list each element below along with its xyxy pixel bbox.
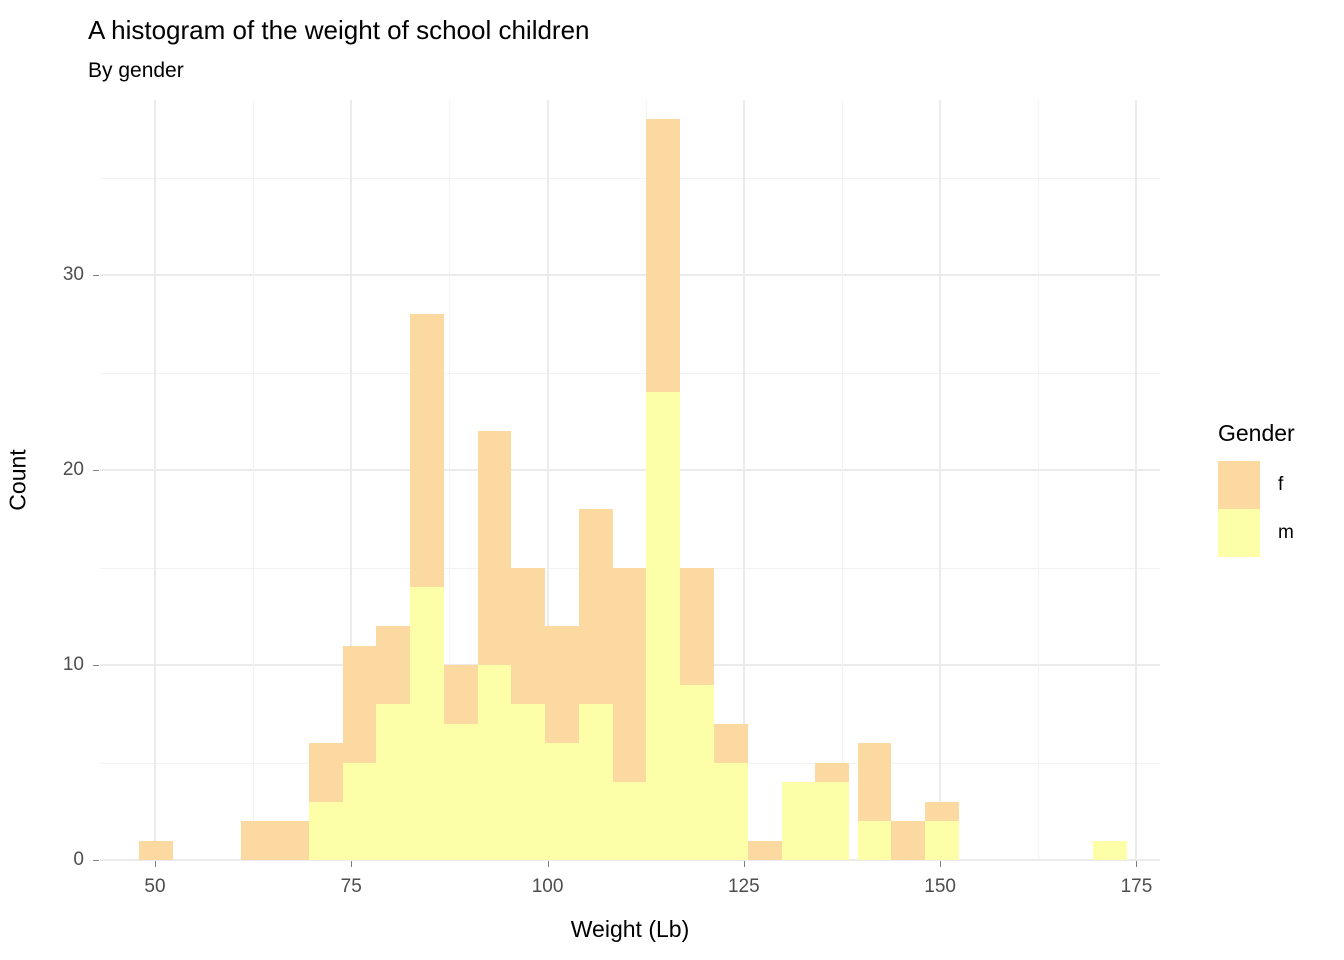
histogram-bar [646, 119, 680, 392]
gridline-y-major [100, 274, 1160, 276]
histogram-bar [444, 724, 478, 860]
legend: Gender f m [1218, 420, 1295, 557]
histogram-bar [309, 802, 343, 860]
histogram-bar [275, 821, 309, 860]
y-axis-label: Count [5, 449, 32, 510]
plot-panel [100, 100, 1160, 860]
histogram-bar [410, 587, 444, 860]
x-tick-label: 75 [341, 876, 362, 898]
histogram-bar [613, 782, 647, 860]
gridline-y-major [100, 469, 1160, 471]
y-tick-mark [93, 470, 99, 471]
y-tick-label: 30 [63, 264, 84, 286]
gridline-x-major [939, 100, 941, 860]
x-tick-label: 175 [1121, 876, 1153, 898]
x-tick-mark [940, 861, 941, 867]
histogram-bar [925, 802, 959, 821]
gridline-x-minor [253, 100, 254, 860]
histogram-bar [139, 841, 173, 860]
histogram-bar [925, 821, 959, 860]
histogram-bar [680, 685, 714, 860]
x-tick-mark [548, 861, 549, 867]
histogram-bar [782, 782, 816, 860]
histogram-bar [511, 568, 545, 704]
gridline-y-minor [100, 178, 1160, 179]
histogram-bar [579, 509, 613, 704]
y-tick-mark [93, 275, 99, 276]
histogram-bar [1093, 841, 1127, 860]
gridline-x-major [1135, 100, 1137, 860]
chart-title: A histogram of the weight of school chil… [88, 14, 590, 46]
gridline-x-minor [842, 100, 843, 860]
x-tick-mark [155, 861, 156, 867]
histogram-bar [646, 392, 680, 860]
legend-item-f[interactable]: f [1218, 461, 1295, 509]
histogram-bar [891, 821, 925, 860]
histogram-bar [478, 665, 512, 860]
histogram-bar [815, 782, 849, 860]
histogram-bar [343, 763, 377, 860]
histogram-bar [748, 841, 782, 860]
histogram-bar [309, 743, 343, 801]
histogram-bar [410, 314, 444, 587]
histogram-bar [241, 821, 275, 860]
histogram-bar [545, 626, 579, 743]
histogram-bar [714, 763, 748, 860]
histogram-bar [714, 724, 748, 763]
x-axis-label: Weight (Lb) [571, 916, 689, 943]
legend-swatch-f [1218, 461, 1260, 509]
x-tick-label: 125 [728, 876, 760, 898]
histogram-bar [579, 704, 613, 860]
histogram-bar [511, 704, 545, 860]
histogram-bar [815, 763, 849, 782]
y-tick-label: 0 [73, 849, 84, 871]
y-tick-label: 20 [63, 459, 84, 481]
gridline-x-minor [1038, 100, 1039, 860]
histogram-bar [444, 665, 478, 723]
gridline-y-minor [100, 373, 1160, 374]
histogram-bar [478, 431, 512, 665]
legend-title: Gender [1218, 420, 1295, 447]
legend-label-m: m [1278, 522, 1294, 544]
x-tick-mark [351, 861, 352, 867]
histogram-bar [545, 743, 579, 860]
legend-label-f: f [1278, 474, 1283, 496]
histogram-bar [376, 704, 410, 860]
x-tick-label: 100 [532, 876, 564, 898]
x-tick-mark [744, 861, 745, 867]
x-tick-mark [1136, 861, 1137, 867]
y-tick-label: 10 [63, 654, 84, 676]
histogram-bar [858, 821, 892, 860]
histogram-bar [680, 568, 714, 685]
legend-swatch-m [1218, 509, 1260, 557]
histogram-bar [376, 626, 410, 704]
histogram-bar [343, 646, 377, 763]
gridline-x-major [154, 100, 156, 860]
y-tick-mark [93, 665, 99, 666]
chart-subtitle: By gender [88, 58, 184, 84]
legend-item-m[interactable]: m [1218, 509, 1295, 557]
x-tick-label: 50 [144, 876, 165, 898]
y-tick-mark [93, 860, 99, 861]
histogram-bar [858, 743, 892, 821]
x-tick-label: 150 [924, 876, 956, 898]
histogram-bar [613, 568, 647, 782]
